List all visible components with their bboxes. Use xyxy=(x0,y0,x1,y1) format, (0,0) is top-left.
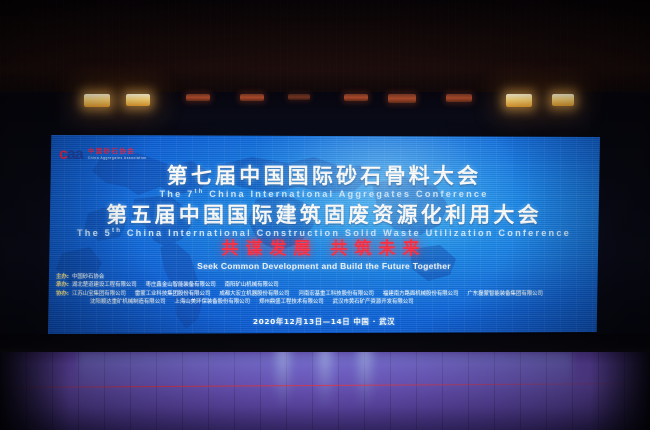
sponsor-list: 主办:中国砂石协会承办:湖北楚道建设工程有限公司枣庄鑫金山智能装备有限公司南阳矿… xyxy=(56,273,592,307)
house-light-8 xyxy=(446,94,472,102)
house-light-6 xyxy=(344,94,368,101)
stage-floor xyxy=(0,352,650,430)
house-light-1 xyxy=(84,94,110,107)
caa-logo-chinese: 中国砂石协会 xyxy=(88,149,147,156)
sponsor-company-name: 广东磊蒙智能装备集团有限公司 xyxy=(467,290,542,298)
sponsor-role-label: 主办: xyxy=(56,273,69,281)
auditorium-wall-right xyxy=(590,96,650,356)
event-date-location: 2020年12月13日—14日 中国 · 武汉 xyxy=(48,316,600,327)
sponsor-row: 协办:江苏山宝集团有限公司雷蒙工业科技集团股份有限公司成都大宏立机器股份有限公司… xyxy=(56,290,592,298)
sponsor-row: 承办:湖北楚道建设工程有限公司枣庄鑫金山智能装备有限公司南阳矿山机械有限公司 xyxy=(56,281,592,289)
sponsor-company-name: 枣庄鑫金山智能装备有限公司 xyxy=(146,281,216,289)
ceiling-light-rail xyxy=(0,86,650,120)
sponsor-company-name: 武汉市黄石矿产资源开发有限公司 xyxy=(333,298,414,306)
house-light-4 xyxy=(240,94,264,101)
title-1-en-prefix: The 7 xyxy=(159,189,194,199)
sponsor-company-name: 沈阳顺达重矿机械制造有限公司 xyxy=(90,298,165,306)
title-2-en-prefix: The 5 xyxy=(77,228,112,238)
conference-title-2-cn: 第五届中国国际建筑固废资源化利用大会 xyxy=(48,204,600,226)
sponsor-row: 主办:中国砂石协会 xyxy=(56,273,592,281)
sponsor-company-name: 成都大宏立机器股份有限公司 xyxy=(219,290,289,298)
sponsor-company-name: 江苏山宝集团有限公司 xyxy=(72,290,126,298)
sponsor-company-name: 南阳矿山机械有限公司 xyxy=(225,281,279,289)
conference-stage-photo: caa 中国砂石协会 China Aggregates Association … xyxy=(0,0,650,430)
sponsor-company-name: 雷蒙工业科技集团股份有限公司 xyxy=(135,290,210,298)
title-2-en-suffix: China International Construction Solid W… xyxy=(122,228,571,238)
house-light-3 xyxy=(186,94,210,101)
sponsor-company-name: 郑州鼎盛工程技术有限公司 xyxy=(259,298,324,306)
sponsor-company-name: 福建南方路面机械股份有限公司 xyxy=(383,290,458,298)
house-light-10 xyxy=(552,94,574,106)
caa-logo-mark: caa xyxy=(59,147,83,163)
sponsor-role-label: 协办: xyxy=(56,290,69,298)
title-1-en-ordinal: th xyxy=(194,189,204,195)
title-2-en-ordinal: th xyxy=(112,228,122,234)
conference-title-2-en: The 5th China International Construction… xyxy=(48,228,600,238)
floor-shadow-left xyxy=(0,352,70,430)
conference-title-1-en: The 7th China International Aggregates C… xyxy=(48,189,600,199)
sponsor-company-name: 中国砂石协会 xyxy=(72,273,104,281)
sponsor-row: 沈阳顺达重矿机械制造有限公司上海山美环保装备股份有限公司郑州鼎盛工程技术有限公司… xyxy=(56,298,592,306)
slogan-english: Seek Common Development and Build the Fu… xyxy=(48,261,600,271)
sponsor-company-name: 河南宏基重工科技股份有限公司 xyxy=(298,290,373,298)
floor-shadow-right xyxy=(590,352,650,430)
conference-title-1-cn: 第七届中国国际砂石骨料大会 xyxy=(48,165,600,187)
caa-logo-english: China Aggregates Association xyxy=(88,157,147,160)
caa-association-logo: caa 中国砂石协会 China Aggregates Association xyxy=(59,147,147,163)
house-light-2 xyxy=(126,94,150,106)
sponsor-company-name: 湖北楚道建设工程有限公司 xyxy=(72,281,137,289)
floor-plank-lines xyxy=(0,352,650,430)
sponsor-company-name: 上海山美环保装备股份有限公司 xyxy=(174,298,249,306)
conference-slogan: 共谋发展 共筑未来 Seek Common Development and Bu… xyxy=(48,240,600,271)
title-1-en-suffix: China International Aggregates Conferenc… xyxy=(205,189,489,199)
sponsor-role-label: 承办: xyxy=(56,281,69,289)
house-light-5 xyxy=(288,94,310,100)
slogan-chinese: 共谋发展 共筑未来 xyxy=(48,240,600,259)
conference-titles: 第七届中国国际砂石骨料大会 The 7th China Internationa… xyxy=(48,165,600,243)
house-light-9 xyxy=(506,94,532,107)
caa-logo-wordmark: 中国砂石协会 China Aggregates Association xyxy=(88,149,147,160)
house-light-7 xyxy=(388,94,416,103)
auditorium-ceiling xyxy=(0,0,650,96)
led-backdrop-screen: caa 中国砂石协会 China Aggregates Association … xyxy=(48,135,600,334)
